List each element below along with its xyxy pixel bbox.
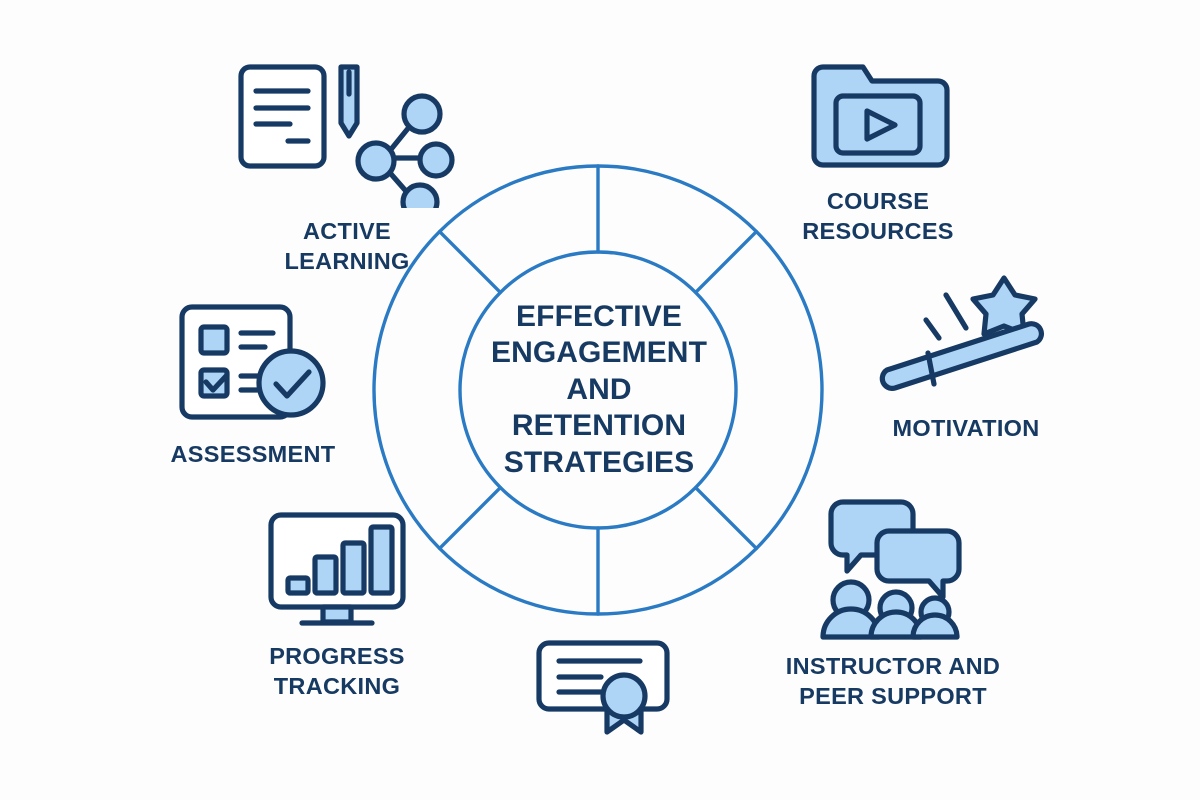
video-folder-icon — [805, 58, 965, 178]
ring-spoke-lower-right — [696, 488, 757, 549]
certificate-ribbon-icon — [530, 636, 680, 736]
support-label: INSTRUCTOR AND PEER SUPPORT — [786, 652, 1000, 712]
node-assessment[interactable]: ASSESSMENT — [142, 298, 364, 470]
node-motivation[interactable]: MOTIVATION — [866, 272, 1066, 444]
center-title-line-3: AND — [566, 372, 631, 409]
node-progress-tracking[interactable]: PROGRESS TRACKING — [222, 508, 452, 702]
assessment-label: ASSESSMENT — [171, 440, 336, 470]
node-certificate[interactable] — [520, 636, 690, 745]
center-hub-title: EFFECTIVE ENGAGEMENT AND RETENTION STRAT… — [460, 286, 738, 494]
node-active-learning[interactable]: ACTIVE LEARNING — [228, 58, 458, 277]
support-icon-box — [813, 498, 973, 640]
monitor-bar-chart-icon — [262, 508, 412, 630]
node-instructor-peer-support[interactable]: INSTRUCTOR AND PEER SUPPORT — [758, 498, 1028, 712]
center-title-line-4: RETENTION — [512, 408, 686, 445]
center-title-line-5: STRATEGIES — [504, 445, 694, 482]
node-course-resources[interactable]: COURSE RESOURCES — [770, 58, 1000, 247]
infographic-canvas: EFFECTIVE ENGAGEMENT AND RETENTION STRAT… — [0, 0, 1200, 800]
checklist-checkmark-icon — [173, 298, 333, 426]
course-resources-icon-box — [805, 58, 965, 178]
center-title-line-1: EFFECTIVE — [516, 299, 682, 336]
active-learning-icon-box — [228, 58, 458, 208]
progress-label: PROGRESS TRACKING — [269, 642, 405, 702]
course-resources-label: COURSE RESOURCES — [802, 187, 954, 247]
ring-spoke-upper-right — [696, 232, 757, 293]
motivation-label: MOTIVATION — [892, 414, 1039, 444]
center-title-line-2: ENGAGEMENT — [491, 335, 707, 372]
speech-bubbles-people-icon — [813, 498, 973, 640]
active-learning-label: ACTIVE LEARNING — [284, 217, 409, 277]
document-pencil-network-icon — [228, 58, 458, 208]
assessment-icon-box — [173, 298, 333, 426]
magic-wand-star-icon — [871, 272, 1061, 400]
certificate-icon-box — [530, 636, 680, 736]
motivation-icon-box — [871, 272, 1061, 400]
progress-icon-box — [262, 508, 412, 630]
